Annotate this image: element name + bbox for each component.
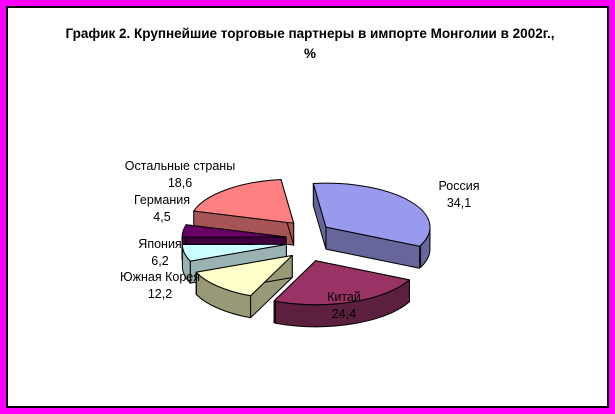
magenta-page-border: График 2. Крупнейшие торговые партнеры в…	[0, 0, 615, 414]
slice-label-china: Китай 24,4	[304, 289, 384, 323]
slice-label-germany-name: Германия	[112, 192, 212, 209]
slice-label-other-countries-value: 18,6	[112, 175, 248, 192]
slice-label-russia-name: Россия	[414, 178, 504, 195]
slice-label-russia: Россия 34,1	[414, 178, 504, 212]
slice-label-south-korea-name: Южная Корея	[104, 269, 216, 286]
pie-chart-graphic	[8, 8, 607, 406]
chart-canvas: График 2. Крупнейшие торговые партнеры в…	[6, 6, 609, 408]
slice-label-china-value: 24,4	[304, 306, 384, 323]
slice-label-other-countries: Остальные страны 18,6	[112, 158, 248, 192]
slice-label-south-korea-value: 12,2	[104, 286, 216, 303]
slice-label-japan: Япония 6,2	[120, 236, 200, 270]
slice-label-japan-value: 6,2	[120, 253, 200, 270]
slice-label-china-name: Китай	[304, 289, 384, 306]
slice-label-russia-value: 34,1	[414, 195, 504, 212]
slice-label-other-countries-name: Остальные страны	[112, 158, 248, 175]
slice-label-germany-value: 4,5	[112, 209, 212, 226]
pie-slice-россия[interactable]	[313, 183, 430, 268]
slice-label-germany: Германия 4,5	[112, 192, 212, 226]
slice-label-japan-name: Япония	[120, 236, 200, 253]
slice-label-south-korea: Южная Корея 12,2	[104, 269, 216, 303]
